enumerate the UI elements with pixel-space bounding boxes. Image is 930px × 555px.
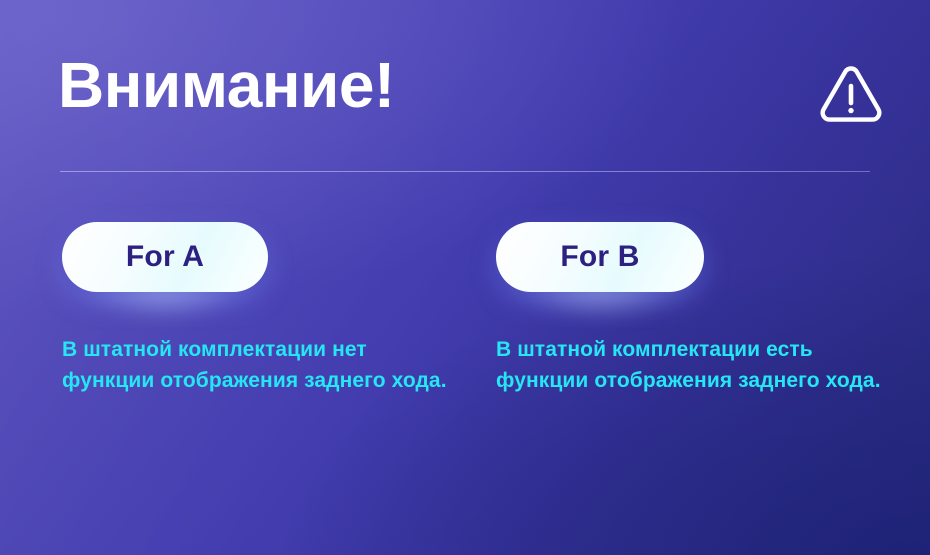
for-b-button[interactable]: For B — [496, 222, 704, 292]
for-a-button-wrap: For A — [62, 222, 268, 292]
for-a-button-label: For A — [126, 242, 204, 272]
for-b-button-label: For B — [560, 242, 639, 272]
for-a-button[interactable]: For A — [62, 222, 268, 292]
option-columns: For A В штатной комплектации нет функции… — [0, 0, 930, 555]
option-column-a: For A В штатной комплектации нет функции… — [62, 222, 462, 396]
option-a-description: В штатной комплектации нет функции отобр… — [62, 334, 452, 396]
for-b-button-wrap: For B — [496, 222, 704, 292]
warning-slide: Внимание! For A В штатной комплектации н… — [0, 0, 930, 555]
option-b-description: В штатной комплектации есть функции отоб… — [496, 334, 888, 396]
option-column-b: For B В штатной комплектации есть функци… — [496, 222, 896, 396]
